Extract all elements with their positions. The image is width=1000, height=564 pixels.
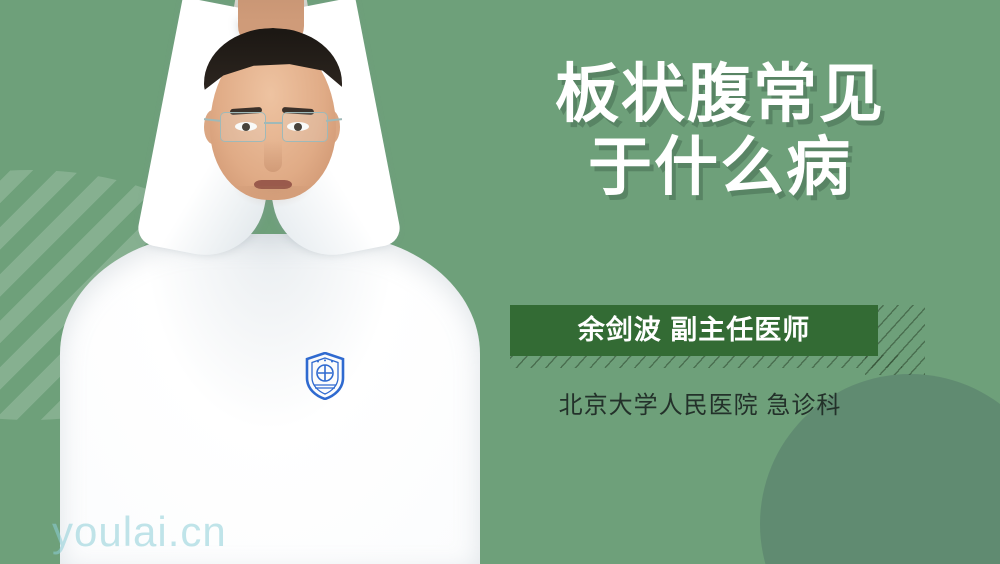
hospital-shield-emblem xyxy=(305,352,345,400)
title-line-2: 于什么病 xyxy=(500,131,940,204)
eyeglasses xyxy=(220,112,328,142)
chin-shadow xyxy=(232,186,314,208)
doctor-name-badge: 余剑波 副主任医师 xyxy=(510,305,910,359)
nose xyxy=(264,140,282,172)
lens-right xyxy=(282,112,328,142)
badge-label: 余剑波 副主任医师 xyxy=(510,305,878,356)
lab-coat xyxy=(60,234,480,564)
video-thumbnail-canvas: 板状腹常见 于什么病 余剑波 副主任医师 北京大学人民医院 急诊科 youlai… xyxy=(0,0,1000,564)
doctor-affiliation: 北京大学人民医院 急诊科 xyxy=(500,385,900,420)
badge-hatch-bottom xyxy=(510,355,902,368)
doctor-portrait xyxy=(60,0,480,564)
lens-left xyxy=(220,112,266,142)
glasses-bridge xyxy=(264,122,282,124)
video-title: 板状腹常见 于什么病 xyxy=(500,58,940,204)
title-line-1: 板状腹常见 xyxy=(500,58,940,131)
